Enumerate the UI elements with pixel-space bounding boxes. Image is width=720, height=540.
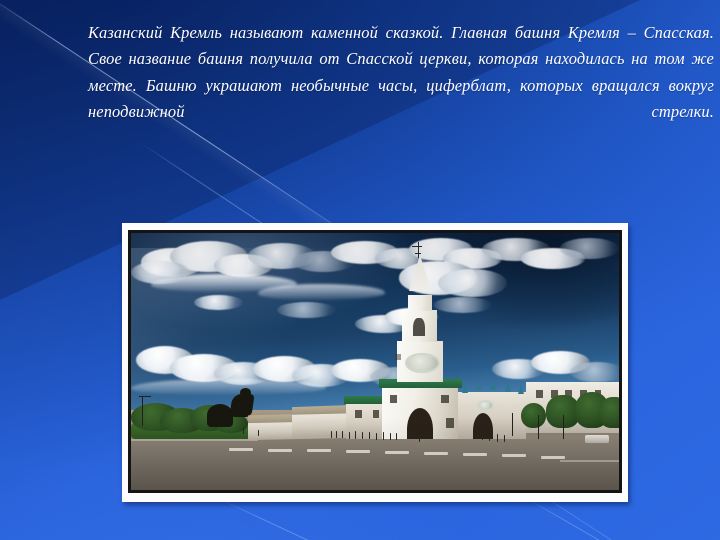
person bbox=[390, 433, 391, 440]
tree bbox=[599, 397, 619, 428]
person bbox=[331, 431, 332, 438]
road-marking bbox=[131, 439, 258, 441]
monument-pedestal bbox=[207, 404, 234, 427]
tower-cross-vertical bbox=[418, 242, 419, 258]
body-paragraph: Казанский Кремль называют каменной сказк… bbox=[88, 20, 714, 151]
cloud bbox=[438, 269, 506, 297]
turret bbox=[462, 384, 468, 393]
person bbox=[376, 433, 377, 440]
crosswalk-stripe bbox=[424, 452, 448, 455]
kazan-kremlin-photo bbox=[131, 233, 619, 490]
cloud bbox=[560, 238, 619, 259]
person bbox=[497, 434, 498, 441]
tower-clock-face bbox=[405, 353, 439, 374]
window bbox=[355, 410, 362, 418]
lamp-post bbox=[512, 413, 513, 436]
window bbox=[373, 410, 380, 418]
crosswalk-stripe bbox=[463, 453, 487, 456]
road-marking bbox=[560, 460, 619, 462]
crosswalk-stripe bbox=[307, 449, 331, 452]
belfry-bell-opening bbox=[413, 318, 425, 336]
window bbox=[395, 354, 401, 361]
person bbox=[342, 431, 343, 438]
cloud bbox=[570, 362, 619, 383]
person bbox=[258, 430, 259, 436]
turret bbox=[505, 383, 511, 392]
cloud bbox=[194, 295, 243, 310]
person bbox=[349, 432, 350, 439]
cloud-band bbox=[258, 284, 385, 299]
lamp-post-arm bbox=[139, 396, 151, 397]
turret bbox=[490, 381, 496, 390]
lamp-post bbox=[563, 415, 564, 438]
crosswalk-stripe bbox=[346, 450, 370, 453]
parked-car bbox=[585, 435, 609, 444]
crosswalk-stripe bbox=[502, 454, 526, 457]
cloud bbox=[434, 297, 493, 312]
turret bbox=[518, 385, 524, 394]
lamp-post bbox=[538, 415, 539, 438]
window bbox=[441, 395, 449, 403]
spasskaya-tower-spire bbox=[409, 255, 431, 291]
tower-cross-horizontal bbox=[412, 246, 422, 247]
lamp-post bbox=[142, 397, 143, 425]
person bbox=[369, 432, 370, 439]
turret bbox=[476, 381, 482, 390]
cloud-band bbox=[131, 379, 326, 394]
crosswalk-stripe bbox=[229, 448, 253, 451]
spasskaya-tower-upper-stage bbox=[408, 295, 432, 312]
window bbox=[536, 390, 543, 398]
photo-frame bbox=[122, 223, 628, 502]
crosswalk-stripe bbox=[385, 451, 409, 454]
person bbox=[336, 431, 337, 438]
window bbox=[446, 418, 454, 428]
slide-body-text: Казанский Кремль называют каменной сказк… bbox=[88, 20, 714, 151]
cloud bbox=[277, 302, 336, 317]
person bbox=[419, 435, 420, 442]
crosswalk-stripe bbox=[541, 456, 565, 459]
monument-statue bbox=[229, 394, 254, 417]
window bbox=[390, 395, 398, 403]
tower-cross-horizontal-lower bbox=[415, 253, 421, 254]
person bbox=[504, 435, 505, 442]
crosswalk-stripe bbox=[268, 449, 292, 452]
photo-inner-border bbox=[128, 230, 622, 493]
tree bbox=[521, 403, 545, 429]
person bbox=[383, 432, 384, 439]
presentation-slide: Казанский Кремль называют каменной сказк… bbox=[0, 0, 720, 540]
